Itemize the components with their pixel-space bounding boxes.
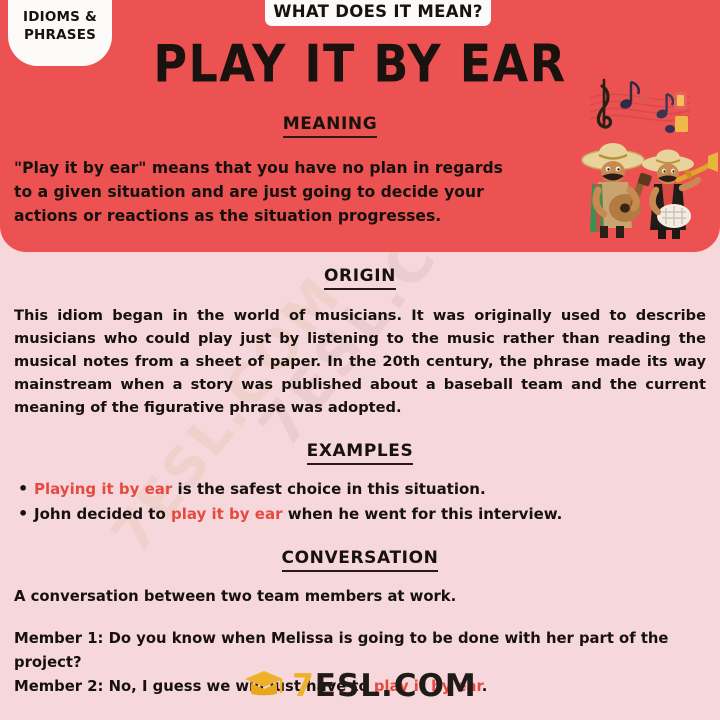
logo-wordmark: 7ESL.COM (292, 671, 477, 702)
examples-heading: EXAMPLES (0, 441, 720, 465)
examples-list: Playing it by ear is the safest choice i… (0, 477, 720, 526)
trumpet-player-illustration (642, 150, 718, 240)
meaning-body: "Play it by ear" means that you have no … (14, 156, 512, 228)
badge-text-block: IDIOMS & PHRASES (23, 9, 97, 44)
list-item: John decided to play it by ear when he w… (34, 502, 720, 526)
list-item: Playing it by ear is the safest choice i… (34, 477, 720, 501)
hero-panel: IDIOMS & PHRASES WHAT DOES IT MEAN? PLAY… (0, 0, 720, 252)
meaning-heading-label: MEANING (283, 114, 378, 138)
note-block-icon-2 (665, 116, 688, 133)
content-area: ORIGIN This idiom began in the world of … (0, 252, 720, 699)
guitar-player-illustration (582, 143, 652, 238)
page-title: PLAY IT BY EAR (140, 38, 580, 90)
examples-heading-label: EXAMPLES (307, 441, 414, 465)
example-2-rest: when he went for this interview. (283, 505, 563, 523)
origin-heading-label: ORIGIN (324, 266, 396, 290)
site-logo[interactable]: 7ESL.COM (0, 668, 720, 705)
conversation-intro: A conversation between two team members … (14, 588, 706, 605)
conversation-heading-label: CONVERSATION (282, 548, 439, 572)
meaning-heading: MEANING (0, 114, 660, 138)
conversation-heading: CONVERSATION (0, 548, 720, 572)
what-does-it-mean-banner: WHAT DOES IT MEAN? (265, 0, 491, 26)
example-1-idiom: Playing it by ear (34, 480, 172, 498)
example-1-rest: is the safest choice in this situation. (172, 480, 485, 498)
badge-line-2: PHRASES (23, 27, 97, 44)
logo-seven: 7 (292, 668, 315, 704)
origin-body: This idiom began in the world of musicia… (14, 304, 706, 419)
idioms-phrases-badge: IDIOMS & PHRASES (8, 0, 112, 66)
mariachi-musicians-illustration (578, 68, 718, 240)
treble-clef-icon (598, 80, 610, 127)
logo-rest: ESL.COM (315, 668, 477, 704)
graduation-cap-icon (243, 668, 285, 705)
origin-heading: ORIGIN (0, 266, 720, 290)
banner-label: WHAT DOES IT MEAN? (273, 2, 483, 21)
example-2-idiom: play it by ear (171, 505, 283, 523)
example-2-lead: John decided to (34, 505, 171, 523)
note-block-icon-1 (674, 92, 687, 109)
badge-line-1: IDIOMS & (23, 9, 97, 26)
